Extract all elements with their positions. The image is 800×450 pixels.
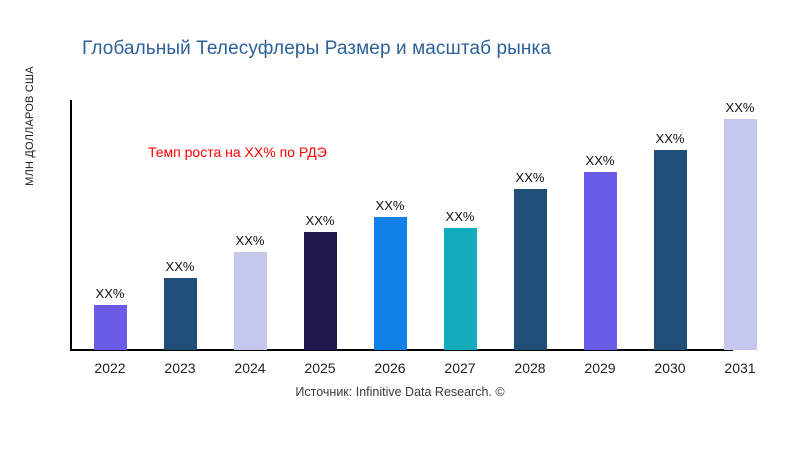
y-axis-label: МЛН ДОЛЛАРОВ США xyxy=(24,26,36,226)
bar[interactable] xyxy=(374,217,407,350)
bar-value-label: XX% xyxy=(355,198,425,213)
source-caption: Источник: Infinitive Data Research. © xyxy=(0,385,800,399)
x-axis-tick-label: 2024 xyxy=(215,360,285,376)
x-axis-tick-label: 2027 xyxy=(425,360,495,376)
bar[interactable] xyxy=(654,150,687,350)
y-axis-line xyxy=(70,100,72,350)
bar-value-label: XX% xyxy=(215,233,285,248)
bar-group-2029: XX%2029 xyxy=(565,100,635,350)
bar-value-label: XX% xyxy=(425,209,495,224)
bar-value-label: XX% xyxy=(635,131,705,146)
x-axis-tick-label: 2028 xyxy=(495,360,565,376)
x-axis-tick-label: 2031 xyxy=(705,360,775,376)
bar[interactable] xyxy=(304,232,337,350)
bar-value-label: XX% xyxy=(495,170,565,185)
bar-value-label: XX% xyxy=(285,213,355,228)
bar-group-2030: XX%2030 xyxy=(635,100,705,350)
bar-group-2028: XX%2028 xyxy=(495,100,565,350)
bar[interactable] xyxy=(514,189,547,350)
bar-value-label: XX% xyxy=(565,153,635,168)
x-axis-tick-label: 2023 xyxy=(145,360,215,376)
bar[interactable] xyxy=(724,119,757,350)
x-axis-tick-label: 2025 xyxy=(285,360,355,376)
bar-group-2025: XX%2025 xyxy=(285,100,355,350)
bar-value-label: XX% xyxy=(145,259,215,274)
x-axis-tick-label: 2022 xyxy=(75,360,145,376)
bar-group-2024: XX%2024 xyxy=(215,100,285,350)
bar-group-2031: XX%2031 xyxy=(705,100,775,350)
chart-title: Глобальный Телесуфлеры Размер и масштаб … xyxy=(82,38,551,60)
x-axis-tick-label: 2029 xyxy=(565,360,635,376)
bar-group-2026: XX%2026 xyxy=(355,100,425,350)
bar-group-2027: XX%2027 xyxy=(425,100,495,350)
x-axis-tick-label: 2026 xyxy=(355,360,425,376)
chart-container: Глобальный Телесуфлеры Размер и масштаб … xyxy=(0,0,800,450)
bar[interactable] xyxy=(584,172,617,350)
bar[interactable] xyxy=(444,228,477,350)
bar[interactable] xyxy=(94,305,127,350)
x-axis-tick-label: 2030 xyxy=(635,360,705,376)
bar-value-label: XX% xyxy=(705,100,775,115)
bar-value-label: XX% xyxy=(75,286,145,301)
bar[interactable] xyxy=(234,252,267,350)
bar[interactable] xyxy=(164,278,197,350)
bar-group-2022: XX%2022 xyxy=(75,100,145,350)
bar-group-2023: XX%2023 xyxy=(145,100,215,350)
